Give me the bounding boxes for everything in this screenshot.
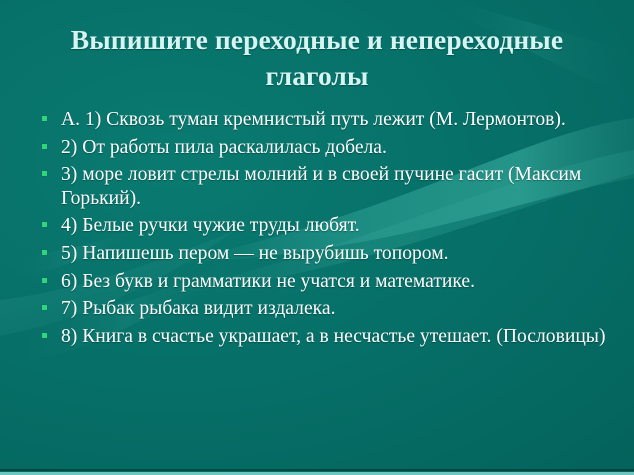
list-item: 7) Рыбак рыбака видит издалека.	[34, 297, 612, 320]
square-bullet-icon	[42, 144, 47, 149]
list-item-label: А. 1) Сквозь туман кремнистый путь лежит…	[61, 108, 612, 131]
list-item: 4) Белые ручки чужие труды любят.	[34, 214, 612, 237]
square-bullet-icon	[42, 278, 47, 283]
list-item-label: 8) Книга в счастье украшает, а в несчаст…	[61, 325, 612, 348]
list-item-label: 3) море ловит стрелы молний и в своей пу…	[61, 163, 612, 209]
list-item: 6) Без букв и грамматики не учатся и мат…	[34, 270, 612, 293]
list-item-label: 6) Без букв и грамматики не учатся и мат…	[61, 270, 612, 293]
slide-title: Выпишите переходные и непереходные глаго…	[24, 22, 610, 95]
square-bullet-icon	[42, 171, 47, 176]
list-item-label: 7) Рыбак рыбака видит издалека.	[61, 297, 612, 320]
verb-sentence-list: А. 1) Сквозь туман кремнистый путь лежит…	[34, 108, 612, 353]
list-item-label: 2) От работы пила раскалилась добела.	[61, 136, 612, 159]
list-item-label: 5) Напишешь пером — не вырубишь топором.	[61, 242, 612, 265]
list-item: 2) От работы пила раскалилась добела.	[34, 136, 612, 159]
list-item: А. 1) Сквозь туман кремнистый путь лежит…	[34, 108, 612, 131]
square-bullet-icon	[42, 222, 47, 227]
square-bullet-icon	[42, 116, 47, 121]
square-bullet-icon	[42, 305, 47, 310]
list-item: 3) море ловит стрелы молний и в своей пу…	[34, 163, 612, 209]
list-item: 8) Книга в счастье украшает, а в несчаст…	[34, 325, 612, 348]
presentation-slide: Выпишите переходные и непереходные глаго…	[0, 0, 634, 475]
square-bullet-icon	[42, 250, 47, 255]
square-bullet-icon	[42, 333, 47, 338]
list-item: 5) Напишешь пером — не вырубишь топором.	[34, 242, 612, 265]
list-item-label: 4) Белые ручки чужие труды любят.	[61, 214, 612, 237]
bottom-divider-line	[0, 469, 634, 471]
